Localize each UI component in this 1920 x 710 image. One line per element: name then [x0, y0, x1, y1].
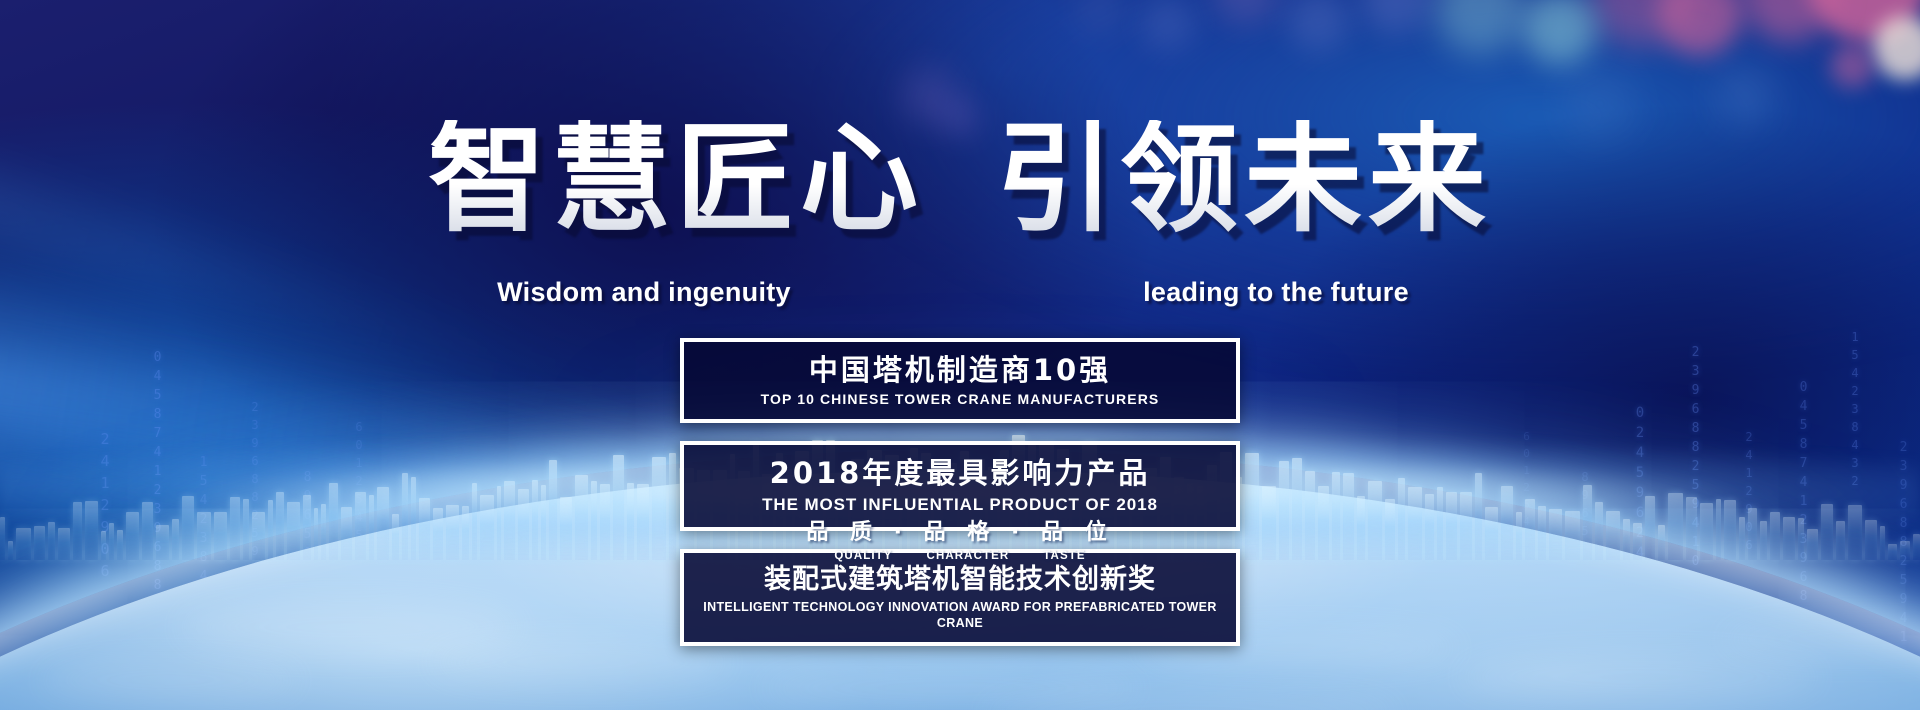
award-box-innovation: 装配式建筑塔机智能技术创新奖 INTELLIGENT TECHNOLOGY IN…: [680, 549, 1240, 646]
cloud-wisp: [40, 660, 300, 700]
award-title-en: TOP 10 CHINESE TOWER CRANE MANUFACTURERS: [684, 390, 1236, 408]
tagline-en-word: QUALITY: [834, 550, 892, 562]
subtitle-row: Wisdom and ingenuity leading to the futu…: [0, 277, 1920, 308]
cloud-wisp: [1460, 652, 1820, 702]
subtitle-right-en: leading to the future: [996, 277, 1556, 308]
tagline-en-word: CHARACTER: [927, 550, 1010, 562]
subtitle-left-en: Wisdom and ingenuity: [364, 277, 924, 308]
promo-banner: 2412906045874123968825941015423843223968…: [0, 0, 1920, 710]
headline-right-cn: 引领未来: [996, 120, 1492, 238]
tagline: 品 质 · 品 格 · 品 位 QUALITYCHARACTERTASTE: [750, 514, 1170, 562]
cloud-wisp: [430, 640, 730, 684]
cloud-wisp: [180, 600, 520, 654]
tagline-cn: 品 质 · 品 格 · 品 位: [750, 514, 1170, 546]
award-title-cn: 2018年度最具影响力产品: [684, 455, 1236, 491]
tagline-en-word: TASTE: [1043, 550, 1085, 562]
award-title-cn: 装配式建筑塔机智能技术创新奖: [684, 563, 1236, 597]
award-title-cn: 中国塔机制造商10强: [684, 352, 1236, 388]
tagline-en-row: QUALITYCHARACTERTASTE: [750, 550, 1170, 562]
bokeh-light-icon: [1716, 67, 1774, 125]
headline-row: 智慧匠心 引领未来: [0, 120, 1920, 238]
awards-list: 中国塔机制造商10强 TOP 10 CHINESE TOWER CRANE MA…: [680, 338, 1240, 646]
award-title-en: THE MOST INFLUENTIAL PRODUCT OF 2018: [684, 494, 1236, 516]
award-box-top10: 中国塔机制造商10强 TOP 10 CHINESE TOWER CRANE MA…: [680, 338, 1240, 423]
award-title-en: INTELLIGENT TECHNOLOGY INNOVATION AWARD …: [684, 599, 1236, 632]
headline-left-cn: 智慧匠心: [428, 120, 924, 238]
bokeh-light-icon: [1830, 44, 1874, 88]
